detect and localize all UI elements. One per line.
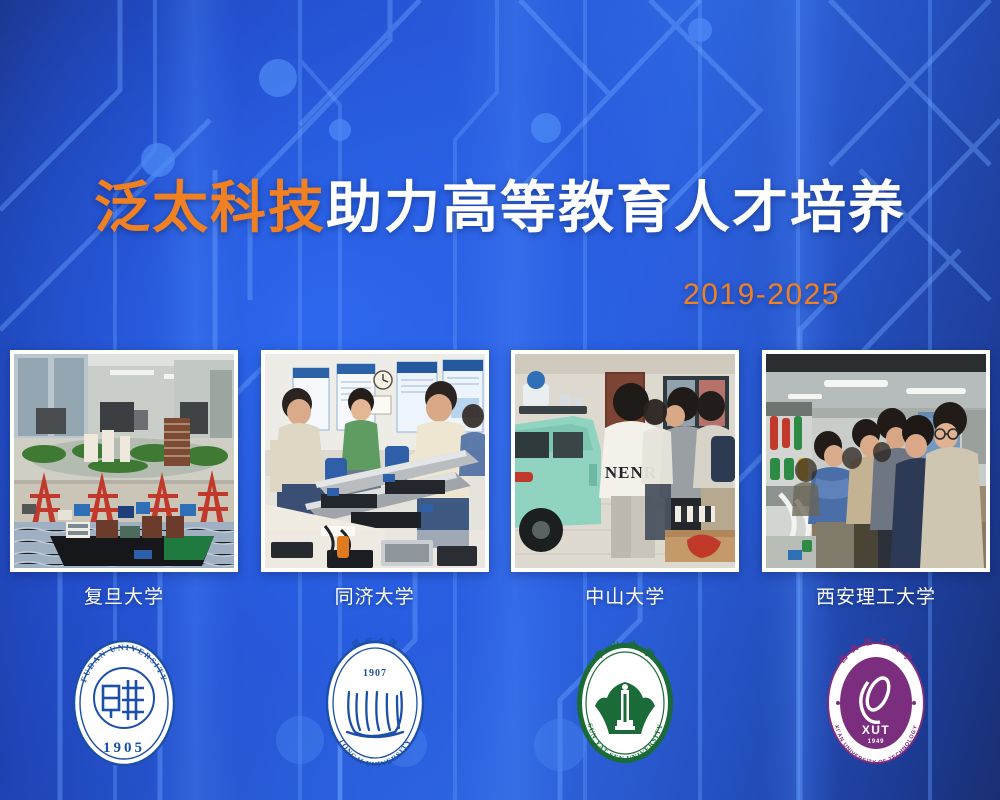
page-title: 泛太科技助力高等教育人才培养 xyxy=(0,176,1000,240)
logo-tongji-university: 同 济 大 学 TONGJI UNIVERSITY 1907 xyxy=(323,638,427,768)
svg-text:1905: 1905 xyxy=(103,740,145,756)
caption-university-4: 西安理工大学 xyxy=(762,582,990,612)
svg-text:1907: 1907 xyxy=(363,668,387,679)
photo-sysu-autonomous-vehicle: NENR xyxy=(515,354,735,568)
photo-tongji-lab-bench xyxy=(265,354,485,568)
caption-row: 复旦大学 同济大学 中山大学 西安理工大学 xyxy=(10,582,990,612)
svg-text:1949: 1949 xyxy=(868,739,885,745)
page-subtitle: 2019-2025 xyxy=(683,278,840,312)
caption-university-2: 同济大学 xyxy=(261,582,489,612)
caption-university-3: 中山大学 xyxy=(511,582,739,612)
photo-card-4[interactable] xyxy=(762,350,990,572)
photo-gallery: NENR xyxy=(10,350,990,572)
photo-card-3[interactable]: NENR xyxy=(511,350,739,572)
photo-fudan-port-model xyxy=(14,354,234,568)
photo-xut-workshop-visit xyxy=(766,354,986,568)
logo-fudan-university: FUDAN UNIVERSITY 1905 xyxy=(72,638,176,768)
svg-text:XUT: XUT xyxy=(862,723,890,737)
logo-cell-3: 中 山 大 学 SUN YAT-SEN UNIVERSITY xyxy=(511,628,739,778)
title-brand-text: 泛太科技 xyxy=(94,176,326,239)
logo-cell-2: 同 济 大 学 TONGJI UNIVERSITY 1907 xyxy=(261,628,489,778)
caption-university-1: 复旦大学 xyxy=(10,582,238,612)
logo-xian-university-of-technology: 西 安 理 工 大 学 XI'AN UNIVERSITY OF TECHNOLO… xyxy=(824,638,928,768)
photo-card-2[interactable] xyxy=(261,350,489,572)
title-block: 泛太科技助力高等教育人才培养 xyxy=(0,176,1000,240)
logo-cell-4: 西 安 理 工 大 学 XI'AN UNIVERSITY OF TECHNOLO… xyxy=(762,628,990,778)
logo-cell-1: FUDAN UNIVERSITY 1905 xyxy=(10,628,238,778)
photo-card-1[interactable] xyxy=(10,350,238,572)
title-rest-text: 助力高等教育人才培养 xyxy=(326,176,906,239)
logo-sun-yat-sen-university: 中 山 大 学 SUN YAT-SEN UNIVERSITY xyxy=(573,638,677,768)
logo-row: FUDAN UNIVERSITY 1905 xyxy=(10,628,990,778)
